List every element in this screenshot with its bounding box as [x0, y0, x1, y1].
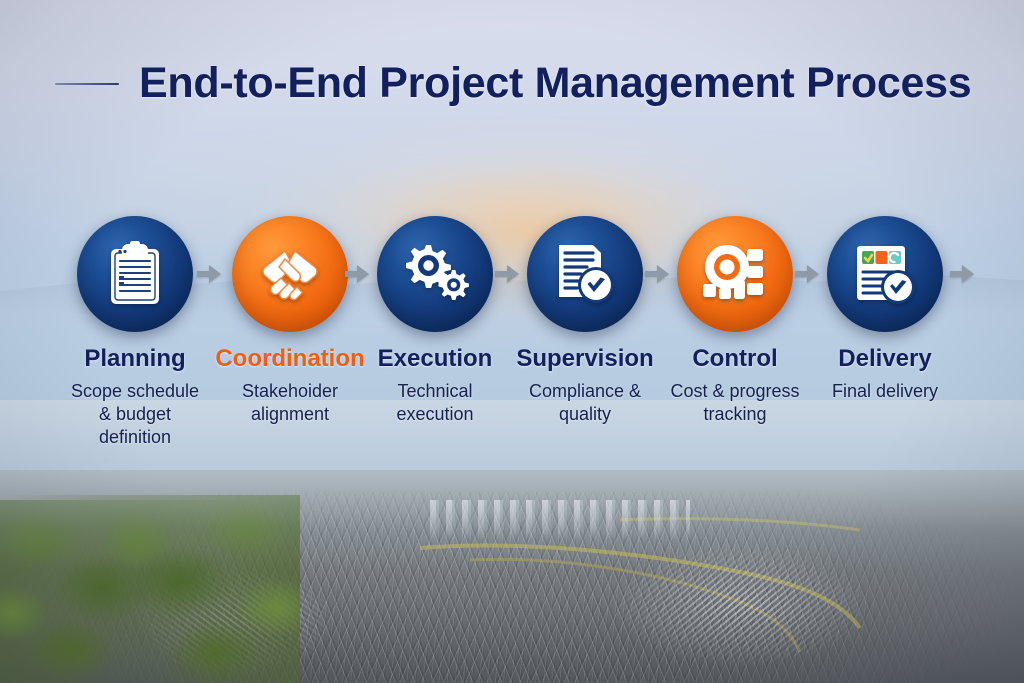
step-icon-circle-control[interactable] — [677, 216, 793, 332]
step-label-planning: Planning — [60, 346, 210, 371]
step-icon-circle-delivery[interactable] — [827, 216, 943, 332]
process-step-coordination[interactable]: Coordination Stakehoider alignment — [215, 216, 365, 426]
process-step-supervision[interactable]: Supervision Compliance & quality — [510, 216, 660, 426]
title-dash-decoration — [55, 83, 119, 85]
report-approved-icon — [851, 243, 919, 305]
step-label-delivery: Delivery — [810, 346, 960, 371]
flow-arrow-3 — [495, 262, 521, 286]
step-icon-circle-execution[interactable] — [377, 216, 493, 332]
process-step-planning[interactable]: Planning Scope schedule & budget definit… — [60, 216, 210, 449]
flow-arrow-1 — [197, 262, 223, 286]
document-check-icon — [551, 241, 619, 307]
flow-arrow-6 — [950, 262, 976, 286]
infographic-canvas: End-to-End Project Management Process — [0, 0, 1024, 683]
flow-arrow-4 — [645, 262, 671, 286]
process-step-control[interactable]: Control Cost & progress tracking — [660, 216, 810, 426]
step-icon-circle-planning[interactable] — [77, 216, 193, 332]
gears-icon — [399, 243, 471, 305]
process-flow: Planning Scope schedule & budget definit… — [0, 216, 1024, 396]
step-label-control: Control — [660, 346, 810, 371]
step-description-execution: Technical execution — [360, 380, 510, 426]
step-label-supervision: Supervision — [510, 346, 660, 371]
target-dashboard-icon — [701, 243, 769, 305]
page-header: End-to-End Project Management Process — [0, 62, 1024, 105]
step-description-control: Cost & progress tracking — [660, 380, 810, 426]
step-description-supervision: Compliance & quality — [510, 380, 660, 426]
clipboard-icon — [104, 241, 166, 307]
page-title: End-to-End Project Management Process — [139, 62, 971, 105]
process-step-execution[interactable]: Execution Technical execution — [360, 216, 510, 426]
step-label-execution: Execution — [360, 346, 510, 371]
handshake-icon — [255, 245, 325, 303]
step-description-coordination: Stakehoider alignment — [215, 380, 365, 426]
flow-arrow-2 — [345, 262, 371, 286]
step-icon-circle-coordination[interactable] — [232, 216, 348, 332]
flow-arrow-5 — [795, 262, 821, 286]
step-icon-circle-supervision[interactable] — [527, 216, 643, 332]
step-description-delivery: Final delivery — [810, 380, 960, 403]
process-step-delivery[interactable]: Delivery Final delivery — [810, 216, 960, 403]
step-description-planning: Scope schedule & budget definition — [60, 380, 210, 449]
step-label-coordination: Coordination — [215, 346, 365, 371]
